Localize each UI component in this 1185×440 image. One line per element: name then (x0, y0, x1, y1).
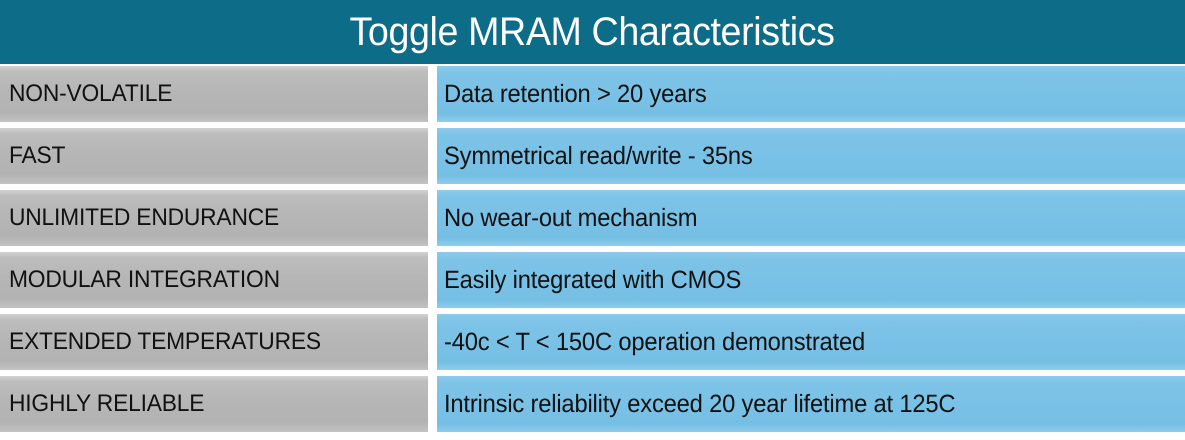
characteristic-label-cell: EXTENDED TEMPERATURES (0, 314, 428, 370)
characteristic-label-text: UNLIMITED ENDURANCE (9, 206, 279, 230)
table-row: MODULAR INTEGRATION Easily integrated wi… (0, 252, 1185, 308)
characteristic-label-cell: FAST (0, 128, 428, 184)
characteristic-label-text: MODULAR INTEGRATION (9, 268, 280, 292)
characteristic-value-cell: Data retention > 20 years (437, 66, 1185, 122)
page-title: Toggle MRAM Characteristics (350, 12, 835, 52)
characteristic-value-cell: Intrinsic reliability exceed 20 year lif… (437, 376, 1185, 432)
characteristic-label-text: FAST (9, 144, 65, 168)
table-row: EXTENDED TEMPERATURES -40c < T < 150C op… (0, 314, 1185, 370)
characteristic-label-text: EXTENDED TEMPERATURES (9, 330, 321, 354)
characteristic-label-cell: NON-VOLATILE (0, 66, 428, 122)
characteristic-label-cell: MODULAR INTEGRATION (0, 252, 428, 308)
characteristic-value-text: Easily integrated with CMOS (444, 268, 741, 293)
characteristic-value-text: Symmetrical read/write - 35ns (444, 144, 753, 169)
characteristic-label-text: HIGHLY RELIABLE (9, 392, 204, 416)
characteristic-value-text: Data retention > 20 years (444, 82, 707, 107)
table-row: FAST Symmetrical read/write - 35ns (0, 128, 1185, 184)
characteristic-value-cell: Symmetrical read/write - 35ns (437, 128, 1185, 184)
characteristic-value-cell: Easily integrated with CMOS (437, 252, 1185, 308)
characteristics-table: NON-VOLATILE Data retention > 20 years F… (0, 66, 1185, 438)
characteristic-label-cell: HIGHLY RELIABLE (0, 376, 428, 432)
characteristic-value-text: No wear-out mechanism (444, 206, 697, 231)
characteristic-value-text: Intrinsic reliability exceed 20 year lif… (444, 392, 955, 417)
table-row: UNLIMITED ENDURANCE No wear-out mechanis… (0, 190, 1185, 246)
table-row: NON-VOLATILE Data retention > 20 years (0, 66, 1185, 122)
characteristic-label-cell: UNLIMITED ENDURANCE (0, 190, 428, 246)
characteristic-value-text: -40c < T < 150C operation demonstrated (444, 330, 865, 355)
characteristic-value-cell: No wear-out mechanism (437, 190, 1185, 246)
characteristic-label-text: NON-VOLATILE (9, 82, 172, 106)
slide-canvas: Toggle MRAM Characteristics NON-VOLATILE… (0, 0, 1185, 440)
title-banner: Toggle MRAM Characteristics (0, 0, 1185, 64)
table-row: HIGHLY RELIABLE Intrinsic reliability ex… (0, 376, 1185, 432)
characteristic-value-cell: -40c < T < 150C operation demonstrated (437, 314, 1185, 370)
